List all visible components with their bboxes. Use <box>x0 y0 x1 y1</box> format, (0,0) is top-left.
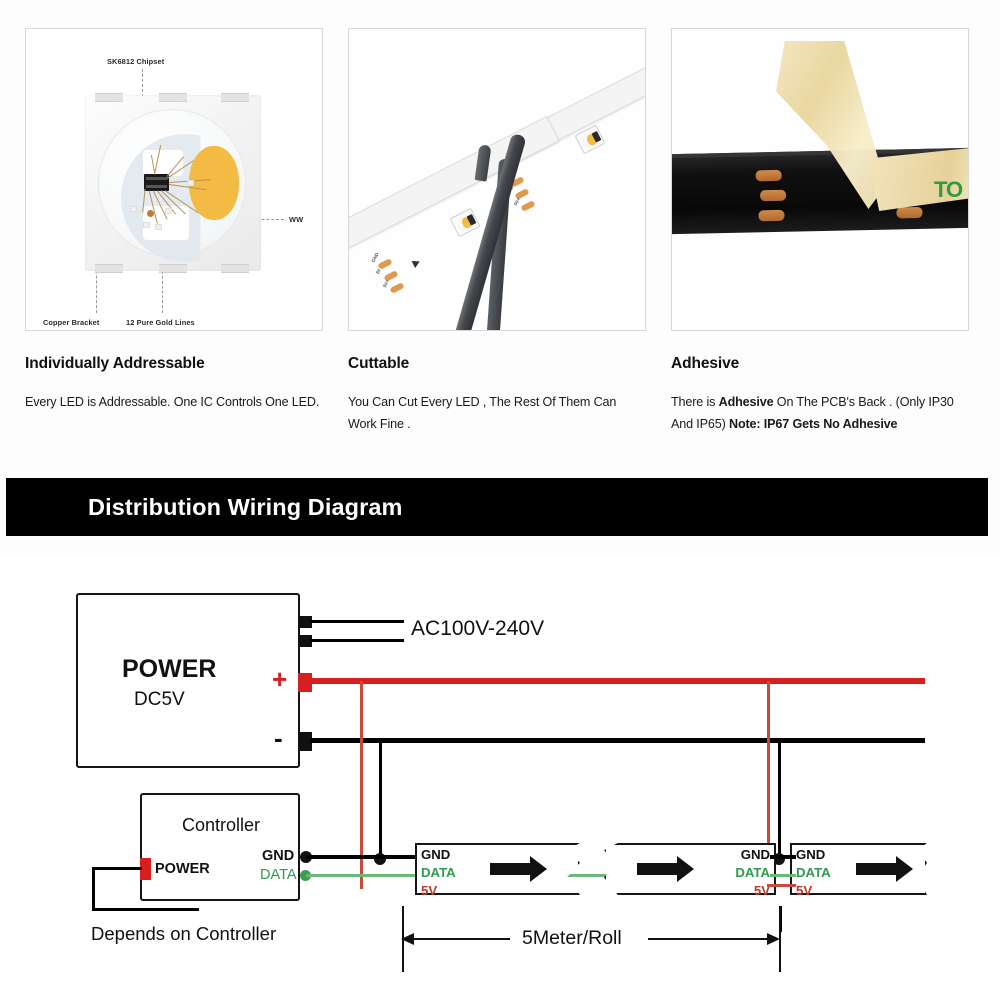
tape-print-text: TO <box>934 177 962 203</box>
solder-pad-icon <box>159 264 187 273</box>
adhesive-backing-photo: TO <box>671 28 969 331</box>
power-supply-subtitle: DC5V <box>134 689 185 711</box>
ac-wire-n <box>310 639 404 642</box>
bond-pad <box>165 208 172 214</box>
strip2-5v-label: 5V <box>722 884 770 897</box>
photo-canvas: TO <box>672 29 968 330</box>
v5-tap-strip3 <box>767 884 770 887</box>
bond-pad <box>143 222 150 228</box>
negative-drop-strip3 <box>778 740 781 858</box>
annotation-copper-bracket: Copper Bracket <box>43 318 99 327</box>
strip1-direction-arrow-icon <box>490 863 530 875</box>
gnd-bridge-strip2-strip3 <box>770 855 796 859</box>
dimension-arrow-left-icon <box>401 933 414 945</box>
strip1-data-label: DATA <box>421 866 456 879</box>
copper-bracket-point <box>147 210 154 217</box>
positive-bus-wire <box>310 678 925 684</box>
negative-drop-strip1 <box>379 740 382 858</box>
feature-panels: SK6812 Chipset WW Copper Bracket 12 Pure… <box>0 0 1000 464</box>
negative-bus-wire <box>310 738 925 743</box>
scissors-cutting-strip-photo: GND DO 5V+ GND DI 5V+ <box>348 28 646 331</box>
warm-white-emitter <box>189 146 239 220</box>
strip2-direction-arrow-icon <box>637 863 677 875</box>
strip3-data-label: DATA <box>796 866 831 879</box>
data-bridge-strip2-strip3 <box>770 874 796 877</box>
controller-power-wire-h <box>92 867 142 870</box>
pad-label-di: DI <box>375 268 382 274</box>
feature-title: Cuttable <box>348 355 646 373</box>
bond-pad <box>187 180 194 186</box>
controller-title: Controller <box>182 815 260 836</box>
feature-panel-cuttable: GND DO 5V+ GND DI 5V+ Cuttable You Can C… <box>348 28 646 464</box>
controller-data-label: DATA <box>260 867 297 883</box>
copper-pad <box>758 210 784 222</box>
led-strip-lower <box>348 116 560 250</box>
annotation-12-pure-gold-lines: 12 Pure Gold Lines <box>126 318 195 327</box>
controller-power-label: POWER <box>155 861 210 877</box>
bond-pad <box>130 206 137 212</box>
strip2-gnd-label: GND <box>722 848 770 861</box>
power-supply-box: POWER DC5V <box>76 593 300 768</box>
dimension-line-left <box>410 938 510 940</box>
feature-description: You Can Cut Every LED , The Rest Of Them… <box>348 391 646 435</box>
direction-arrow-icon <box>412 258 422 268</box>
strip3-5v-label: 5V <box>796 884 812 897</box>
v5-bridge-strip2-strip3 <box>770 884 796 887</box>
controller-gnd-wire <box>306 855 416 859</box>
strip3-direction-arrow-icon <box>856 863 896 875</box>
power-supply-title: POWER <box>122 655 216 684</box>
solder-pad <box>520 200 535 212</box>
feature-description: Every LED is Addressable. One IC Control… <box>25 391 323 413</box>
feature-description: There is Adhesive On The PCB's Back . (O… <box>671 391 969 435</box>
copper-pad <box>760 190 786 202</box>
ac-voltage-label: AC100V-240V <box>411 617 544 641</box>
bond-pad <box>155 224 162 230</box>
distribution-wiring-diagram: POWER DC5V AC100V-240V + - Controller PO… <box>0 554 1000 1000</box>
annotation-sk6812-chipset: SK6812 Chipset <box>107 57 164 66</box>
feature-panel-adhesive: TO Adhesive There is Adhesive On The PCB… <box>671 28 969 464</box>
negative-sign: - <box>274 723 283 754</box>
strip3-gnd-label: GND <box>796 848 825 861</box>
feature-title: Individually Addressable <box>25 355 323 373</box>
section-banner-wrap: Distribution Wiring Diagram <box>0 464 1000 554</box>
led-dome <box>98 109 246 257</box>
dimension-arrow-right-icon <box>767 933 780 945</box>
solder-pad-icon <box>221 93 249 102</box>
sk6812-ic-chip <box>144 174 169 191</box>
dimension-label: 5Meter/Roll <box>522 927 622 950</box>
copper-pad <box>896 207 922 219</box>
solder-pad-icon <box>159 93 187 102</box>
solder-pad <box>389 282 404 294</box>
solder-pad-icon <box>95 264 123 273</box>
controller-note: Depends on Controller <box>91 923 276 945</box>
pad-label-5v: 5V+ <box>382 279 390 289</box>
copper-pad <box>756 170 782 182</box>
controller-gnd-label: GND <box>262 848 294 864</box>
feature-panel-individually-addressable: SK6812 Chipset WW Copper Bracket 12 Pure… <box>25 28 323 464</box>
solder-pad-icon <box>221 264 249 273</box>
controller-box: Controller <box>140 793 300 901</box>
section-title: Distribution Wiring Diagram <box>6 494 403 521</box>
controller-power-wire-b <box>92 908 199 911</box>
pad-label-5v: 5V+ <box>513 197 521 207</box>
annotation-ww: WW <box>289 215 303 224</box>
desc-note: Note: IP67 Gets No <box>729 417 843 431</box>
desc-emphasis: Adhesive <box>843 417 898 431</box>
pad-label-gnd: GND <box>371 252 380 263</box>
solder-pad <box>377 258 392 270</box>
photo-canvas: GND DO 5V+ GND DI 5V+ <box>349 29 645 330</box>
controller-power-wire-v <box>92 867 95 911</box>
strip1-gnd-label: GND <box>421 848 450 861</box>
positive-sign: + <box>272 664 287 695</box>
strip2-data-label: DATA <box>722 866 770 879</box>
strip1-5v-label: 5V <box>421 884 437 897</box>
ac-wire-l <box>310 620 404 623</box>
page-root: SK6812 Chipset WW Copper Bracket 12 Pure… <box>0 0 1000 1000</box>
led-chip-diagram: SK6812 Chipset WW Copper Bracket 12 Pure… <box>25 28 323 331</box>
desc-part: There is <box>671 395 719 409</box>
desc-emphasis: Adhesive <box>719 395 774 409</box>
section-banner: Distribution Wiring Diagram <box>6 478 988 536</box>
solder-pad-icon <box>95 93 123 102</box>
led-package <box>85 95 261 271</box>
dimension-line-right <box>648 938 768 940</box>
led-chip <box>450 208 481 238</box>
feature-title: Adhesive <box>671 355 969 373</box>
